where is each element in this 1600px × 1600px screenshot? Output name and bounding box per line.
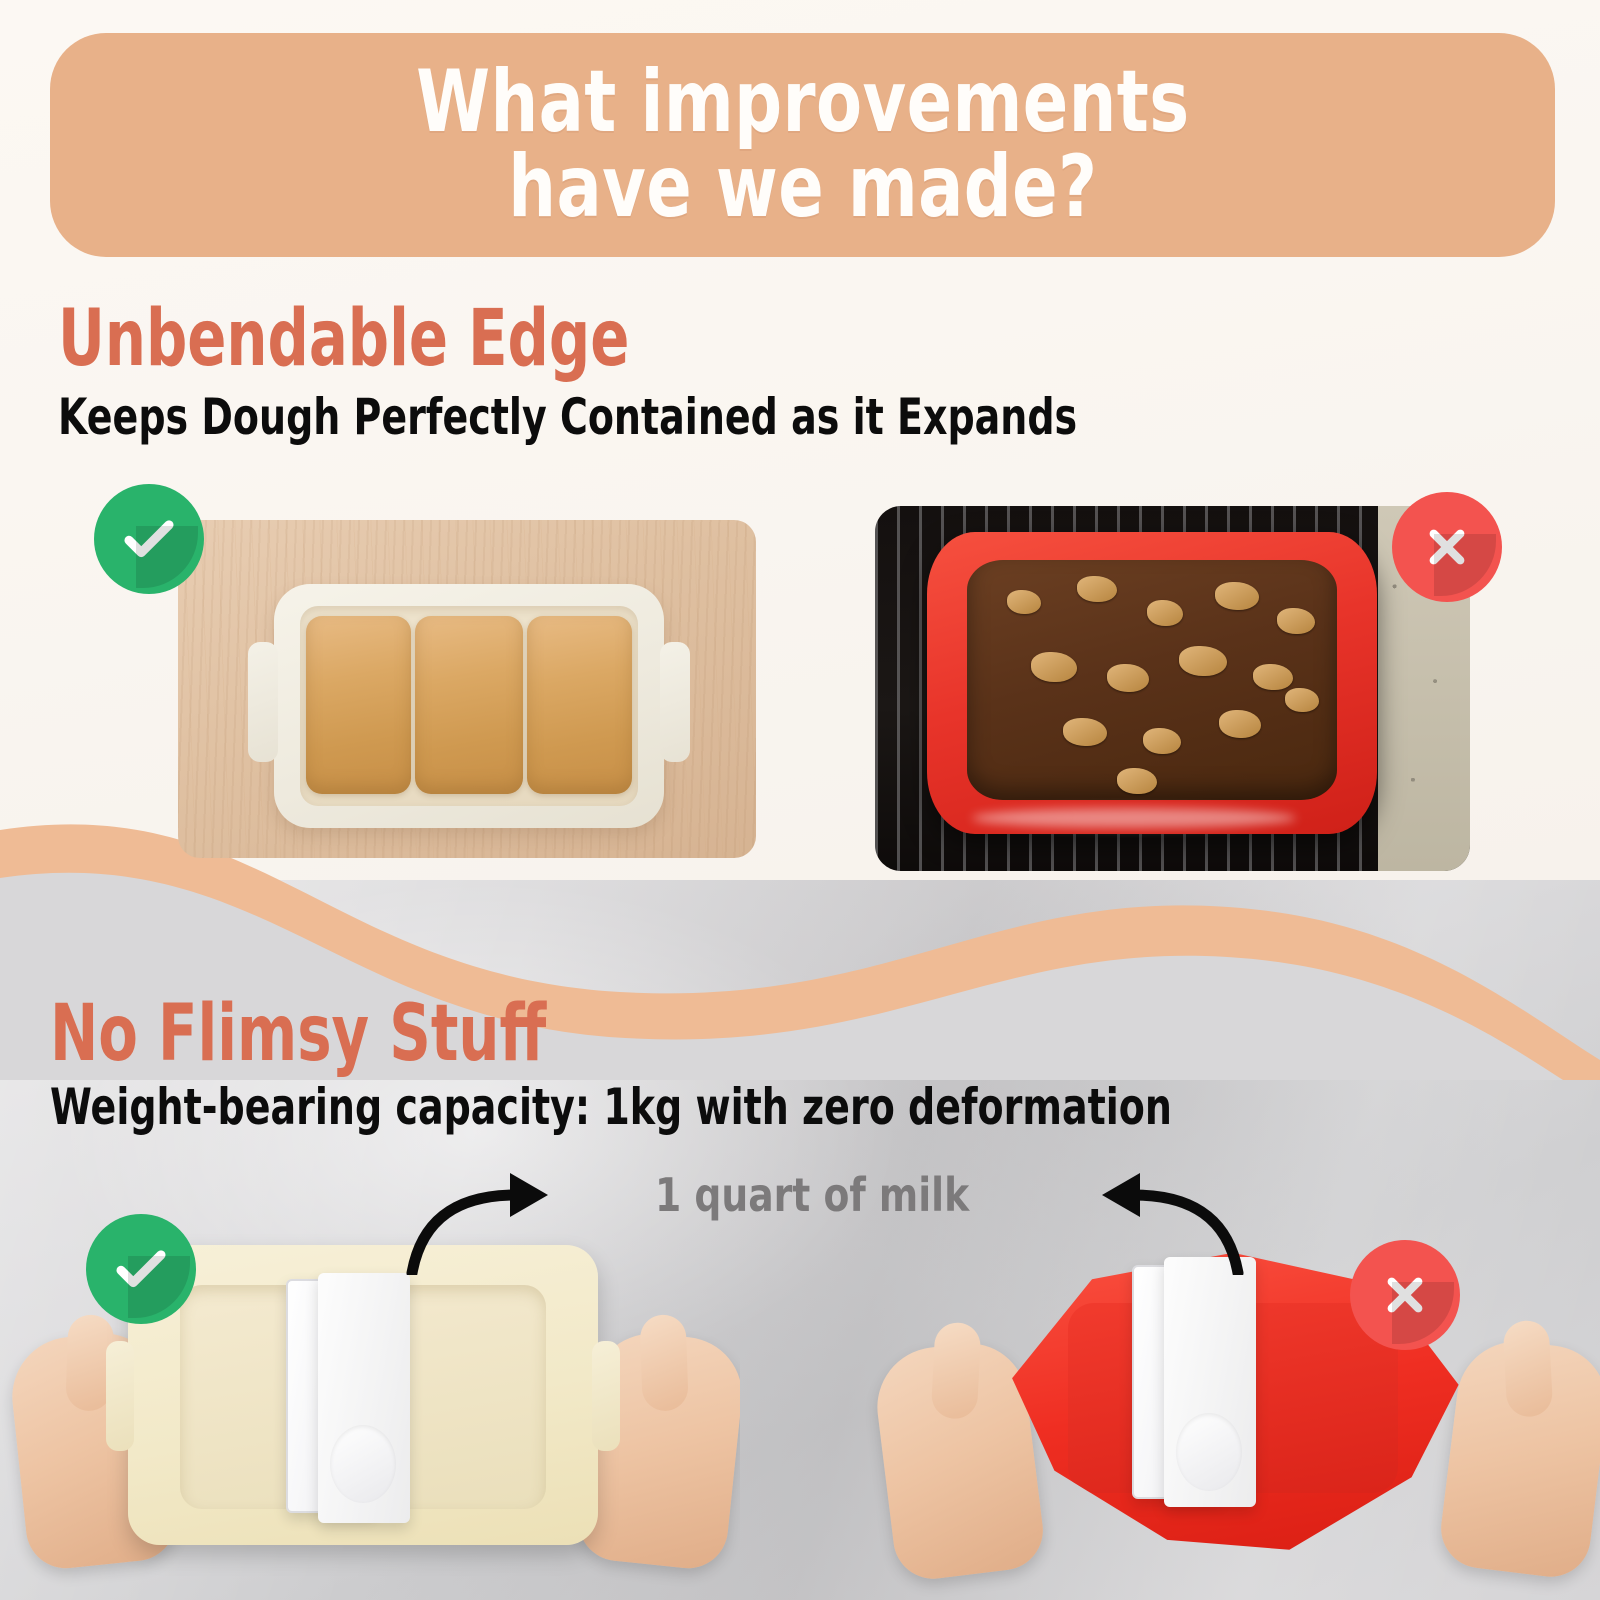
thumb: [1502, 1320, 1553, 1418]
thumb: [639, 1314, 688, 1412]
thumb: [931, 1322, 982, 1420]
product-infographic: What improvements have we made? Unbendab…: [0, 0, 1600, 1600]
curved-arrow-right-icon: [398, 1165, 568, 1275]
milk-carton-back: [1164, 1257, 1256, 1507]
walnut-piece: [1007, 590, 1041, 614]
header-banner: What improvements have we made?: [50, 33, 1555, 257]
header-title: What improvements have we made?: [416, 60, 1190, 230]
photo-bread-in-rigid-pan: [168, 506, 766, 871]
check-badge-good: [94, 484, 204, 594]
cross-badge-bad: [1392, 492, 1502, 602]
pan-handle-left: [106, 1341, 134, 1451]
carton-cap: [330, 1425, 396, 1503]
cutting-board: [178, 520, 756, 858]
curved-arrow-left-icon: [1082, 1165, 1252, 1275]
section-1-subtitle: Keeps Dough Perfectly Contained as it Ex…: [58, 392, 1077, 442]
walnut-piece: [1285, 688, 1319, 712]
cross-badge-bad: [1350, 1240, 1460, 1350]
walnut-piece: [1143, 728, 1181, 754]
walnut-piece: [1077, 576, 1117, 602]
photo-cake-in-red-silicone-pan: [875, 506, 1470, 871]
section-2-title: No Flimsy Stuff: [50, 995, 546, 1073]
walnut-piece: [1063, 718, 1107, 746]
walnut-piece: [1219, 710, 1261, 738]
walnut-piece: [1277, 608, 1315, 634]
section-1-title: Unbendable Edge: [58, 300, 629, 378]
walnut-piece: [1031, 652, 1077, 682]
walnut-piece: [1215, 582, 1259, 610]
hand-right: [1437, 1335, 1600, 1582]
red-silicone-pan: [927, 532, 1377, 834]
check-badge-good: [86, 1214, 196, 1324]
walnut-piece: [1253, 664, 1293, 690]
pan-cavity: [300, 606, 638, 806]
pan-handle-right: [660, 642, 690, 762]
milk-carton-back: [318, 1273, 410, 1523]
rigid-cream-pan: [128, 1245, 598, 1545]
bread-roll: [527, 616, 632, 794]
pan-handle-right: [592, 1341, 620, 1451]
carton-cap: [1176, 1413, 1242, 1491]
bread-roll: [415, 616, 523, 794]
walnut-piece: [1179, 646, 1227, 676]
pan-handle-left: [248, 642, 278, 762]
cream-loaf-pan: [274, 584, 664, 828]
section-2-subtitle: Weight-bearing capacity: 1kg with zero d…: [50, 1082, 1172, 1132]
walnut-piece: [1147, 600, 1183, 626]
walnut-cake: [967, 560, 1337, 800]
bread-roll: [306, 616, 411, 794]
walnut-piece: [1107, 664, 1149, 692]
walnut-piece: [1117, 768, 1157, 794]
